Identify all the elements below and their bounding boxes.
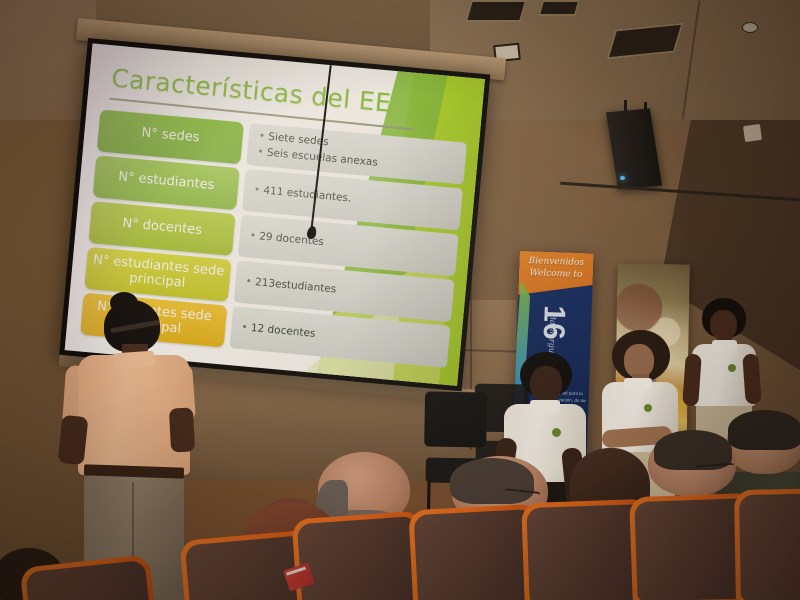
slide-bullet: 29 docentes <box>249 228 448 261</box>
banner-welcome-text: Bienvenidos Welcome to <box>519 255 594 282</box>
auditorium-seat <box>25 560 151 600</box>
student-logo-icon <box>552 428 561 437</box>
seat-cushion <box>739 493 800 600</box>
student-collar <box>530 400 560 413</box>
student-logo-icon <box>644 404 652 412</box>
presenter-arm-right <box>169 407 195 452</box>
seat-cushion <box>414 509 539 600</box>
presenter-arm-left <box>58 415 89 465</box>
student-collar <box>624 378 652 390</box>
slide-row-label: N° estudiantes <box>93 155 240 210</box>
seat-cushion <box>297 516 423 600</box>
banner-welcome-en: Welcome to <box>519 267 593 282</box>
presenter-collar <box>113 351 154 370</box>
auditorium-seat <box>414 509 539 600</box>
student-logo-icon <box>728 364 736 372</box>
slide-bullet: 411 estudiantes. <box>253 183 452 216</box>
audience-hair <box>728 410 800 450</box>
chair-back <box>424 391 487 448</box>
auditorium-seat <box>297 516 423 600</box>
eyeglasses-icon <box>696 463 735 479</box>
ceiling-camera-icon <box>743 124 762 142</box>
auditorium-seat <box>739 493 800 600</box>
slide-row-label: N° docentes <box>88 201 235 256</box>
student-arm-right <box>742 354 761 405</box>
speaker-led-indicator <box>620 176 625 180</box>
ceiling-fixture-icon <box>742 22 758 33</box>
auditorium-photo: Características del EE N° sedes Siete se… <box>0 0 800 600</box>
slide-row-label: N° sedes <box>97 109 244 164</box>
student-face <box>624 344 654 378</box>
slide-row-label: N° estudiantes sede principal <box>84 246 231 301</box>
ceiling-vent-icon <box>538 0 581 16</box>
student-collar <box>712 340 737 351</box>
slide-bullet: 12 docentes <box>241 320 440 353</box>
banner-side-word: Bachergu <box>547 314 557 353</box>
ceiling-vent-icon <box>465 0 527 22</box>
slide-bullet: 213estudiantes <box>245 274 444 307</box>
